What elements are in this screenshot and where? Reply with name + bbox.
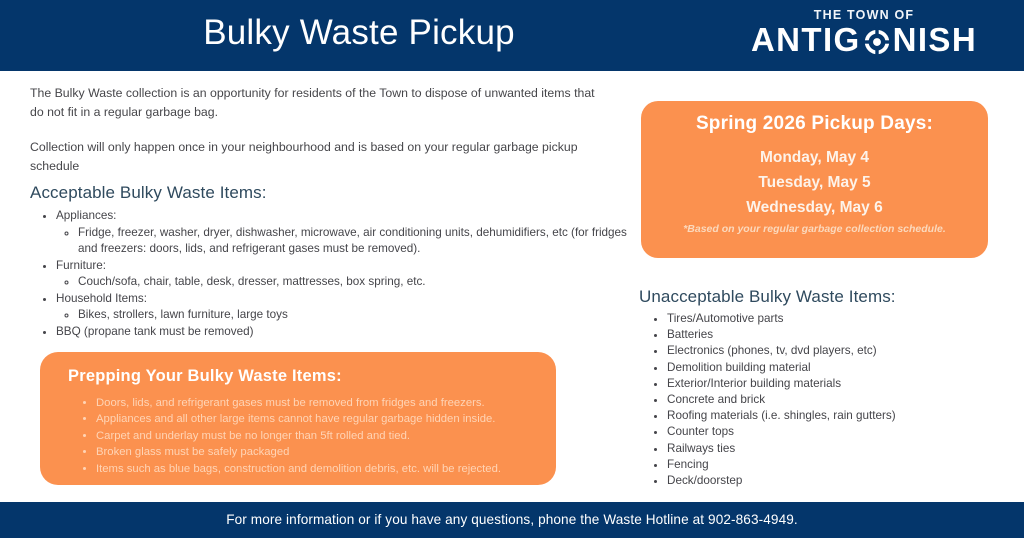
acceptable-subitems: Couch/sofa, chair, table, desk, dresser,… bbox=[56, 274, 630, 291]
acceptable-subitem: Fridge, freezer, washer, dryer, dishwash… bbox=[78, 225, 630, 258]
logo-wordmark: ANTIG NISH bbox=[738, 22, 990, 58]
pickup-day: Monday, May 4 bbox=[641, 145, 988, 170]
prepping-heading: Prepping Your Bulky Waste Items: bbox=[68, 367, 342, 386]
logo-top-line: THE TOWN OF bbox=[738, 8, 990, 22]
unacceptable-item: Exterior/Interior building materials bbox=[667, 376, 1024, 392]
page-title: Bulky Waste Pickup bbox=[0, 10, 718, 56]
unacceptable-item: Fencing bbox=[667, 457, 1024, 473]
intro-paragraph-1: The Bulky Waste collection is an opportu… bbox=[30, 84, 610, 122]
acceptable-item: Household Items:Bikes, strollers, lawn f… bbox=[56, 291, 630, 324]
pickup-days-list: Monday, May 4Tuesday, May 5Wednesday, Ma… bbox=[641, 145, 988, 220]
prepping-callout-box: Prepping Your Bulky Waste Items: Doors, … bbox=[40, 352, 556, 485]
pickup-days-title: Spring 2026 Pickup Days: bbox=[641, 113, 988, 135]
acceptable-item: BBQ (propane tank must be removed) bbox=[56, 324, 630, 341]
acceptable-heading: Acceptable Bulky Waste Items: bbox=[30, 183, 267, 203]
intro-text: The Bulky Waste collection is an opportu… bbox=[30, 84, 610, 176]
unacceptable-item: Batteries bbox=[667, 327, 1024, 343]
poster-page: Bulky Waste Pickup THE TOWN OF ANTIG NIS… bbox=[0, 0, 1024, 538]
pickup-day: Tuesday, May 5 bbox=[641, 170, 988, 195]
prepping-items-list: Doors, lids, and refrigerant gases must … bbox=[74, 395, 566, 477]
acceptable-item: Appliances:Fridge, freezer, washer, drye… bbox=[56, 208, 630, 258]
pickup-days-note: *Based on your regular garbage collectio… bbox=[641, 223, 988, 235]
unacceptable-item: Roofing materials (i.e. shingles, rain g… bbox=[667, 408, 1024, 424]
acceptable-subitem: Couch/sofa, chair, table, desk, dresser,… bbox=[78, 274, 630, 291]
unacceptable-item: Tires/Automotive parts bbox=[667, 311, 1024, 327]
unacceptable-item: Concrete and brick bbox=[667, 392, 1024, 408]
unacceptable-item: Deck/doorstep bbox=[667, 473, 1024, 489]
page-footer: For more information or if you have any … bbox=[0, 502, 1024, 538]
prepping-item: Items such as blue bags, construction an… bbox=[96, 461, 566, 477]
unacceptable-item: Electronics (phones, tv, dvd players, et… bbox=[667, 343, 1024, 359]
unacceptable-item: Counter tops bbox=[667, 424, 1024, 440]
intro-paragraph-2: Collection will only happen once in your… bbox=[30, 138, 610, 176]
page-header: Bulky Waste Pickup THE TOWN OF ANTIG NIS… bbox=[0, 0, 1024, 71]
acceptable-subitems: Bikes, strollers, lawn furniture, large … bbox=[56, 307, 630, 324]
unacceptable-item: Demolition building material bbox=[667, 360, 1024, 376]
unacceptable-items-list: Tires/Automotive partsBatteriesElectroni… bbox=[639, 311, 1024, 489]
logo-name-before: ANTIG bbox=[751, 22, 861, 58]
prepping-item: Appliances and all other large items can… bbox=[96, 411, 566, 427]
unacceptable-item: Railways ties bbox=[667, 441, 1024, 457]
acceptable-subitems: Fridge, freezer, washer, dryer, dishwash… bbox=[56, 225, 630, 258]
acceptable-item-label: BBQ (propane tank must be removed) bbox=[56, 325, 253, 338]
acceptable-item: Furniture:Couch/sofa, chair, table, desk… bbox=[56, 258, 630, 291]
compass-target-icon bbox=[862, 27, 892, 57]
prepping-item: Doors, lids, and refrigerant gases must … bbox=[96, 395, 566, 411]
acceptable-subitem: Bikes, strollers, lawn furniture, large … bbox=[78, 307, 630, 324]
acceptable-item-label: Furniture: bbox=[56, 259, 106, 272]
prepping-item: Broken glass must be safely packaged bbox=[96, 444, 566, 460]
acceptable-item-label: Household Items: bbox=[56, 292, 147, 305]
pickup-day: Wednesday, May 6 bbox=[641, 195, 988, 220]
pickup-days-callout-box: Spring 2026 Pickup Days: Monday, May 4Tu… bbox=[641, 101, 988, 258]
footer-contact-text: For more information or if you have any … bbox=[0, 512, 1024, 527]
town-logo: THE TOWN OF ANTIG NISH bbox=[738, 8, 990, 64]
logo-name-after: NISH bbox=[893, 22, 977, 58]
unacceptable-heading: Unacceptable Bulky Waste Items: bbox=[639, 287, 896, 307]
acceptable-item-label: Appliances: bbox=[56, 209, 116, 222]
acceptable-items-list: Appliances:Fridge, freezer, washer, drye… bbox=[30, 208, 630, 340]
prepping-item: Carpet and underlay must be no longer th… bbox=[96, 428, 566, 444]
